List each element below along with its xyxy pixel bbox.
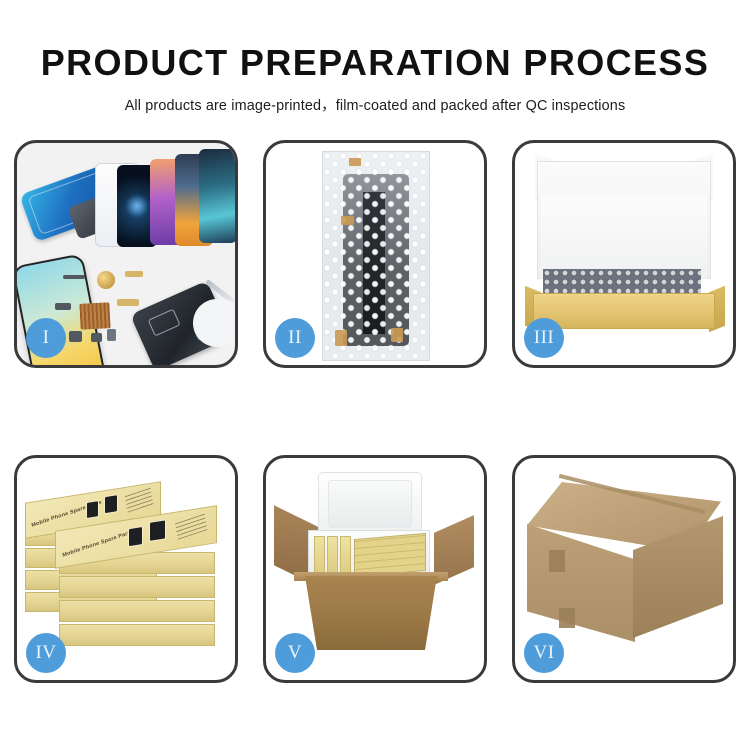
packed-box-row-flat — [354, 533, 426, 577]
stacked-box-front-4 — [59, 600, 215, 622]
process-step-panel-4[interactable]: Mobile Phone Spare Parts Mobile Phone Sp… — [14, 455, 238, 683]
carton-tape-lower — [559, 608, 575, 628]
page-title: PRODUCT PREPARATION PROCESS — [0, 44, 750, 82]
box-spec-lines-front — [174, 511, 207, 540]
step-badge-1: I — [26, 318, 66, 358]
box-window-front-2 — [149, 519, 166, 542]
process-step-grid: I II — [14, 140, 736, 685]
process-step-panel-5[interactable]: V — [263, 455, 487, 683]
small-part-3 — [69, 331, 82, 342]
bubble-wrap-bag — [322, 151, 430, 361]
box-window-rear-1 — [86, 500, 99, 519]
box-label-front: Mobile Phone Spare Parts — [62, 529, 133, 558]
page-subtitle: All products are image-printed，film-coat… — [0, 94, 750, 115]
process-step-panel-2[interactable]: II — [263, 140, 487, 368]
small-part-5 — [107, 329, 116, 341]
header: PRODUCT PREPARATION PROCESS All products… — [0, 0, 750, 115]
step-badge-6: VI — [524, 633, 564, 673]
flex-cable-1 — [125, 271, 143, 277]
process-step-panel-3[interactable]: III — [512, 140, 736, 368]
step-badge-2: II — [275, 318, 315, 358]
stacked-box-front-3 — [59, 576, 215, 598]
speaker-module-icon — [97, 271, 115, 289]
flex-cable-2 — [117, 299, 139, 306]
tape-piece-top — [349, 158, 361, 166]
teal-gradient-phone — [199, 149, 235, 243]
box-spec-lines-rear — [125, 487, 154, 513]
box-window-rear-2 — [104, 494, 118, 514]
process-step-panel-1[interactable]: I — [14, 140, 238, 368]
foam-insert-lid — [318, 472, 422, 536]
packed-box-1 — [314, 536, 325, 574]
box-window-front-1 — [128, 526, 143, 547]
step-badge-4: IV — [26, 633, 66, 673]
carton-left-face — [527, 524, 635, 642]
step-badge-3: III — [524, 318, 564, 358]
carton-front-panel — [296, 576, 446, 650]
small-part-2 — [55, 303, 71, 310]
stacked-box-front-5 — [59, 624, 215, 646]
product-preparation-process-page: PRODUCT PREPARATION PROCESS All products… — [0, 0, 750, 750]
kraft-box-front — [533, 293, 715, 329]
tape-piece-bottom-left — [335, 330, 347, 346]
tape-piece-middle — [341, 216, 354, 225]
packed-box-3 — [340, 536, 351, 574]
white-foam-liner — [541, 195, 707, 279]
technician-hand — [193, 299, 235, 347]
process-step-panel-6[interactable]: VI — [512, 455, 736, 683]
tape-piece-bottom-right — [391, 328, 403, 342]
step-badge-5: V — [275, 633, 315, 673]
packed-box-2 — [327, 536, 338, 574]
carton-tape-upper — [549, 550, 565, 572]
bubble-texture — [323, 152, 429, 360]
small-part-1 — [63, 275, 85, 279]
logic-board-chip — [79, 302, 110, 330]
small-part-4 — [91, 333, 102, 342]
